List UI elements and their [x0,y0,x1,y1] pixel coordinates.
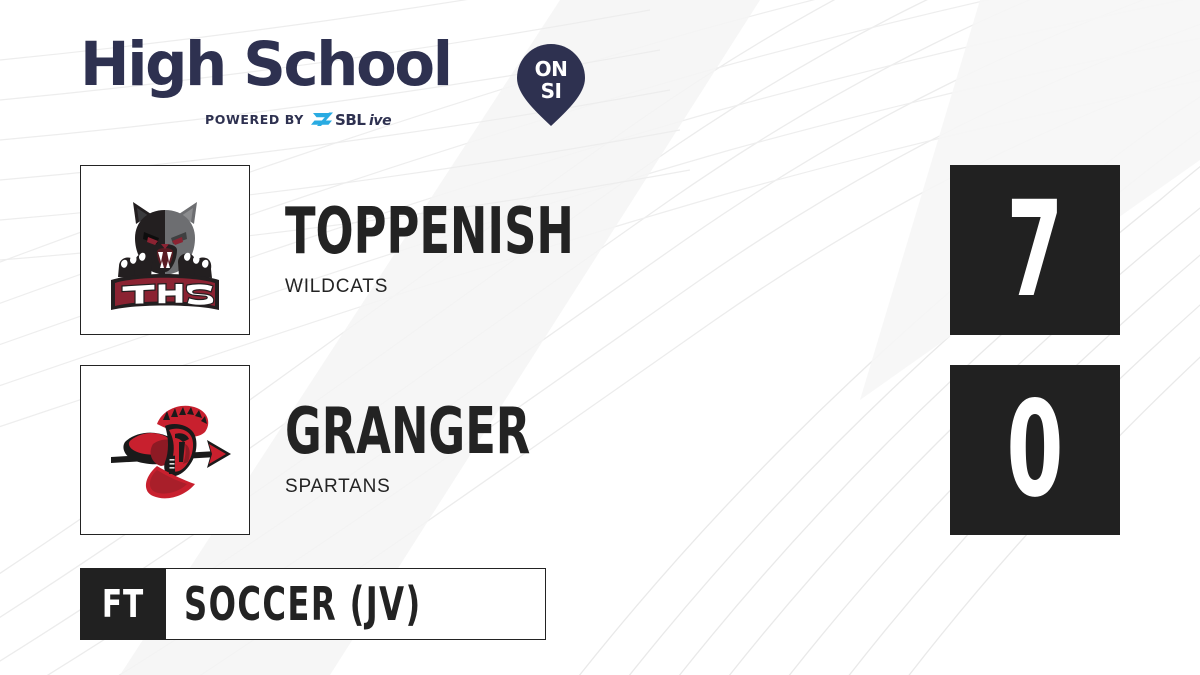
status-period-label: FT [102,582,144,626]
team-text: GRANGER SPARTANS [285,365,635,535]
score-value: 7 [1007,184,1064,316]
score-box: 7 [950,165,1120,335]
sblive-logo-icon: SBL ive [311,109,413,129]
team-row: GRANGER SPARTANS 0 [0,365,1200,535]
score-value: 0 [1007,384,1064,516]
spartan-warrior-logo-icon [95,380,235,520]
powered-by-block: POWERED BY SBL ive [205,108,413,130]
team-text: TOPPENISH WILDCATS [285,165,698,335]
status-period-block: FT [80,568,166,640]
team-mascot: SPARTANS [285,476,635,498]
wildcat-ths-logo-icon [95,180,235,320]
scoreboard-graphic: High School ON SI POWERED BY SBL ive [0,0,1200,675]
on-si-pin-icon: ON SI [514,42,588,128]
status-sport-block: SOCCER (JV) [166,568,546,640]
sblive-text-bold: SBL [335,111,366,129]
pin-label-on: ON [535,57,568,81]
status-sport-label: SOCCER (JV) [184,577,422,631]
team-name: GRANGER [285,402,530,463]
team-name: TOPPENISH [285,202,574,263]
score-box: 0 [950,365,1120,535]
sblive-text-italic: ive [369,113,391,129]
game-status-bar: FT SOCCER (JV) [80,568,546,640]
pin-label-si: SI [541,79,562,103]
team-logo-box[interactable] [80,165,250,335]
powered-by-label: POWERED BY [205,112,304,127]
team-row: TOPPENISH WILDCATS 7 [0,165,1200,335]
brand-wordmark: High School [80,34,451,95]
brand-logo: High School ON SI POWERED BY SBL ive [80,34,510,134]
team-logo-box[interactable] [80,365,250,535]
team-mascot: WILDCATS [285,276,698,298]
